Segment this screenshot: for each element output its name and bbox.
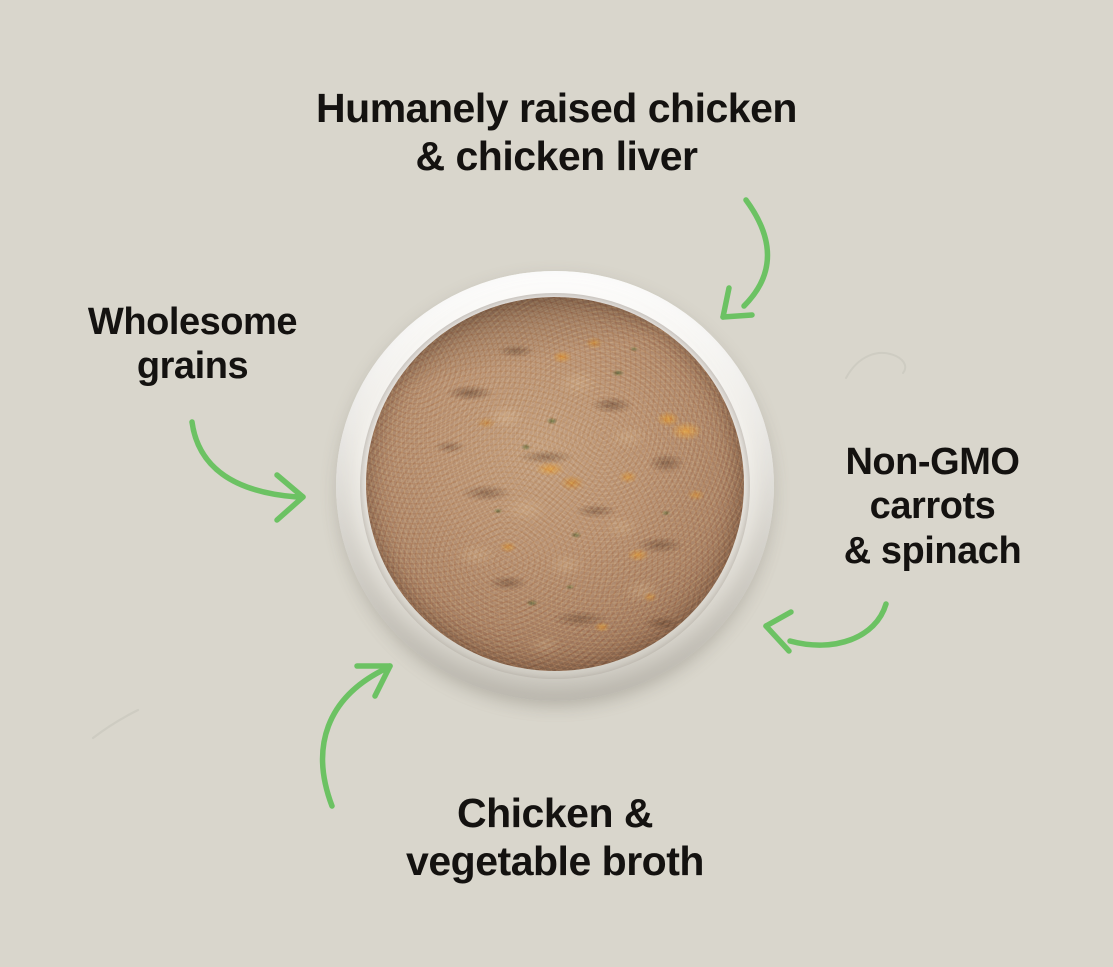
faint-stroke-bottom-left-mark — [93, 710, 138, 738]
arrow-carrots — [766, 604, 886, 651]
arrow-grains — [192, 422, 303, 520]
callout-label-chicken: Humanely raised chicken & chicken liver — [0, 85, 1113, 181]
pet-food-pate — [366, 297, 744, 671]
food-rim-shadow — [366, 297, 744, 671]
callout-label-broth: Chicken & vegetable broth — [300, 790, 810, 886]
callout-label-carrots: Non-GMO carrots & spinach — [795, 440, 1070, 573]
faint-arc-top-right-mark — [846, 353, 905, 378]
pet-food-bowl — [336, 271, 774, 701]
callout-label-grains: Wholesome grains — [30, 300, 355, 389]
ingredient-callout-graphic: Humanely raised chicken & chicken liver … — [0, 0, 1113, 967]
